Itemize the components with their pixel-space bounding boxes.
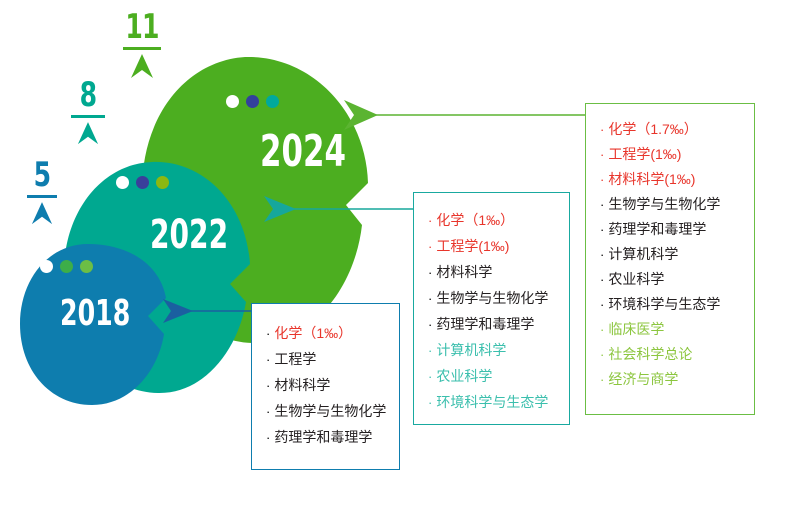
connector-2022-arrow xyxy=(264,194,416,226)
discipline-list-2018: ·化学（1‰） ·工程学 ·材料科学 ·生物学与生物化学 ·药理学和毒理学 xyxy=(251,303,400,470)
up-arrow-icon xyxy=(77,122,99,146)
bullet-icon: · xyxy=(600,348,604,361)
bullet-icon: · xyxy=(428,240,432,253)
discipline-list-2024-items: ·化学（1.7‰） ·工程学(1‰) ·材料科学(1‰) ·生物学与生物化学 ·… xyxy=(600,122,754,386)
list-item: ·材料科学 xyxy=(266,378,399,392)
list-item-label: 生物学与生物化学 xyxy=(274,404,386,418)
list-item: ·环境科学与生态学 xyxy=(600,297,754,311)
bullet-icon: · xyxy=(266,327,270,340)
discipline-list-2022-items: ·化学（1‰） ·工程学(1‰) ·材料科学 ·生物学与生物化学 ·药理学和毒理… xyxy=(428,213,569,409)
blob-2018-year: 2018 xyxy=(60,294,130,334)
list-item: ·生物学与生物化学 xyxy=(266,404,399,418)
list-item: ·生物学与生物化学 xyxy=(600,197,754,211)
bullet-icon: · xyxy=(600,198,604,211)
dot-indigo xyxy=(136,176,149,189)
list-item-label: 材料科学(1‰) xyxy=(608,172,695,186)
discipline-list-2018-items: ·化学（1‰） ·工程学 ·材料科学 ·生物学与生物化学 ·药理学和毒理学 xyxy=(266,326,399,444)
connector-2022 xyxy=(264,194,416,226)
list-item: ·生物学与生物化学 xyxy=(428,291,569,305)
list-item-label: 化学（1‰） xyxy=(274,326,352,340)
bullet-icon: · xyxy=(266,379,270,392)
bullet-icon: · xyxy=(428,266,432,279)
list-item-label: 计算机科学 xyxy=(436,343,506,357)
bullet-icon: · xyxy=(600,323,604,336)
list-item: ·工程学(1‰) xyxy=(600,147,754,161)
blob-2018-dots xyxy=(40,260,93,273)
dot-green xyxy=(60,260,73,273)
list-item-label: 药理学和毒理学 xyxy=(274,430,372,444)
discipline-list-2022: ·化学（1‰） ·工程学(1‰) ·材料科学 ·生物学与生物化学 ·药理学和毒理… xyxy=(413,192,570,425)
list-item: ·农业科学 xyxy=(428,369,569,383)
bullet-icon: · xyxy=(428,370,432,383)
counter-5-underline xyxy=(27,195,57,198)
list-item-label: 环境科学与生态学 xyxy=(436,395,548,409)
bullet-icon: · xyxy=(600,123,604,136)
list-item-label: 生物学与生物化学 xyxy=(436,291,548,305)
list-item: ·化学（1.7‰） xyxy=(600,122,754,136)
bullet-icon: · xyxy=(600,223,604,236)
bullet-icon: · xyxy=(266,431,270,444)
bullet-icon: · xyxy=(600,173,604,186)
list-item-label: 农业科学 xyxy=(436,369,492,383)
infographic-canvas: 11 8 5 2024 xyxy=(0,0,798,513)
list-item: ·社会科学总论 xyxy=(600,347,754,361)
dot-white xyxy=(116,176,129,189)
bullet-icon: · xyxy=(428,292,432,305)
up-arrow-icon xyxy=(31,202,53,226)
list-item-label: 社会科学总论 xyxy=(608,347,692,361)
list-item-label: 药理学和毒理学 xyxy=(608,222,706,236)
dot-indigo xyxy=(246,95,259,108)
list-item: ·化学（1‰） xyxy=(428,213,569,227)
connector-2018 xyxy=(163,297,255,327)
counter-8: 8 xyxy=(60,78,116,146)
blob-2024-dots xyxy=(226,95,279,108)
list-item: ·计算机科学 xyxy=(428,343,569,357)
counter-8-value: 8 xyxy=(65,78,111,112)
bullet-icon: · xyxy=(266,353,270,366)
list-item-label: 经济与商学 xyxy=(608,372,678,386)
bullet-icon: · xyxy=(600,148,604,161)
list-item-label: 材料科学 xyxy=(274,378,330,392)
connector-2024-arrow xyxy=(344,100,589,132)
bullet-icon: · xyxy=(600,373,604,386)
connector-2024 xyxy=(344,100,589,132)
bullet-icon: · xyxy=(428,318,432,331)
list-item: ·工程学(1‰) xyxy=(428,239,569,253)
list-item-label: 材料科学 xyxy=(436,265,492,279)
list-item-label: 环境科学与生态学 xyxy=(608,297,720,311)
dot-green-light xyxy=(80,260,93,273)
bullet-icon: · xyxy=(428,344,432,357)
list-item: ·药理学和毒理学 xyxy=(428,317,569,331)
bullet-icon: · xyxy=(428,214,432,227)
list-item-label: 农业科学 xyxy=(608,272,664,286)
list-item-label: 临床医学 xyxy=(608,322,664,336)
dot-white xyxy=(226,95,239,108)
counter-11-underline xyxy=(123,47,161,50)
list-item: ·药理学和毒理学 xyxy=(600,222,754,236)
list-item: ·材料科学 xyxy=(428,265,569,279)
blob-2024-year: 2024 xyxy=(260,132,346,172)
dot-olive xyxy=(156,176,169,189)
counter-11-value: 11 xyxy=(119,10,165,44)
list-item: ·化学（1‰） xyxy=(266,326,399,340)
list-item: ·临床医学 xyxy=(600,322,754,336)
dot-teal xyxy=(266,95,279,108)
blob-2022-dots xyxy=(116,176,169,189)
list-item-label: 工程学(1‰) xyxy=(436,239,509,253)
bullet-icon: · xyxy=(428,396,432,409)
dot-white xyxy=(40,260,53,273)
list-item-label: 工程学 xyxy=(274,352,316,366)
list-item-label: 化学（1‰） xyxy=(436,213,514,227)
connector-2018-arrow xyxy=(163,297,255,327)
list-item: ·材料科学(1‰) xyxy=(600,172,754,186)
blob-2018: 2018 xyxy=(18,242,168,407)
list-item-label: 生物学与生物化学 xyxy=(608,197,720,211)
list-item-label: 工程学(1‰) xyxy=(608,147,681,161)
list-item-label: 计算机科学 xyxy=(608,247,678,261)
list-item: ·工程学 xyxy=(266,352,399,366)
bullet-icon: · xyxy=(600,298,604,311)
bullet-icon: · xyxy=(266,405,270,418)
list-item: ·经济与商学 xyxy=(600,372,754,386)
discipline-list-2024: ·化学（1.7‰） ·工程学(1‰) ·材料科学(1‰) ·生物学与生物化学 ·… xyxy=(585,103,755,415)
bullet-icon: · xyxy=(600,273,604,286)
list-item: ·农业科学 xyxy=(600,272,754,286)
list-item-label: 药理学和毒理学 xyxy=(436,317,534,331)
list-item: ·环境科学与生态学 xyxy=(428,395,569,409)
list-item-label: 化学（1.7‰） xyxy=(608,122,697,136)
list-item: ·药理学和毒理学 xyxy=(266,430,399,444)
list-item: ·计算机科学 xyxy=(600,247,754,261)
bullet-icon: · xyxy=(600,248,604,261)
counter-8-underline xyxy=(71,115,105,118)
counter-5-value: 5 xyxy=(19,158,65,192)
